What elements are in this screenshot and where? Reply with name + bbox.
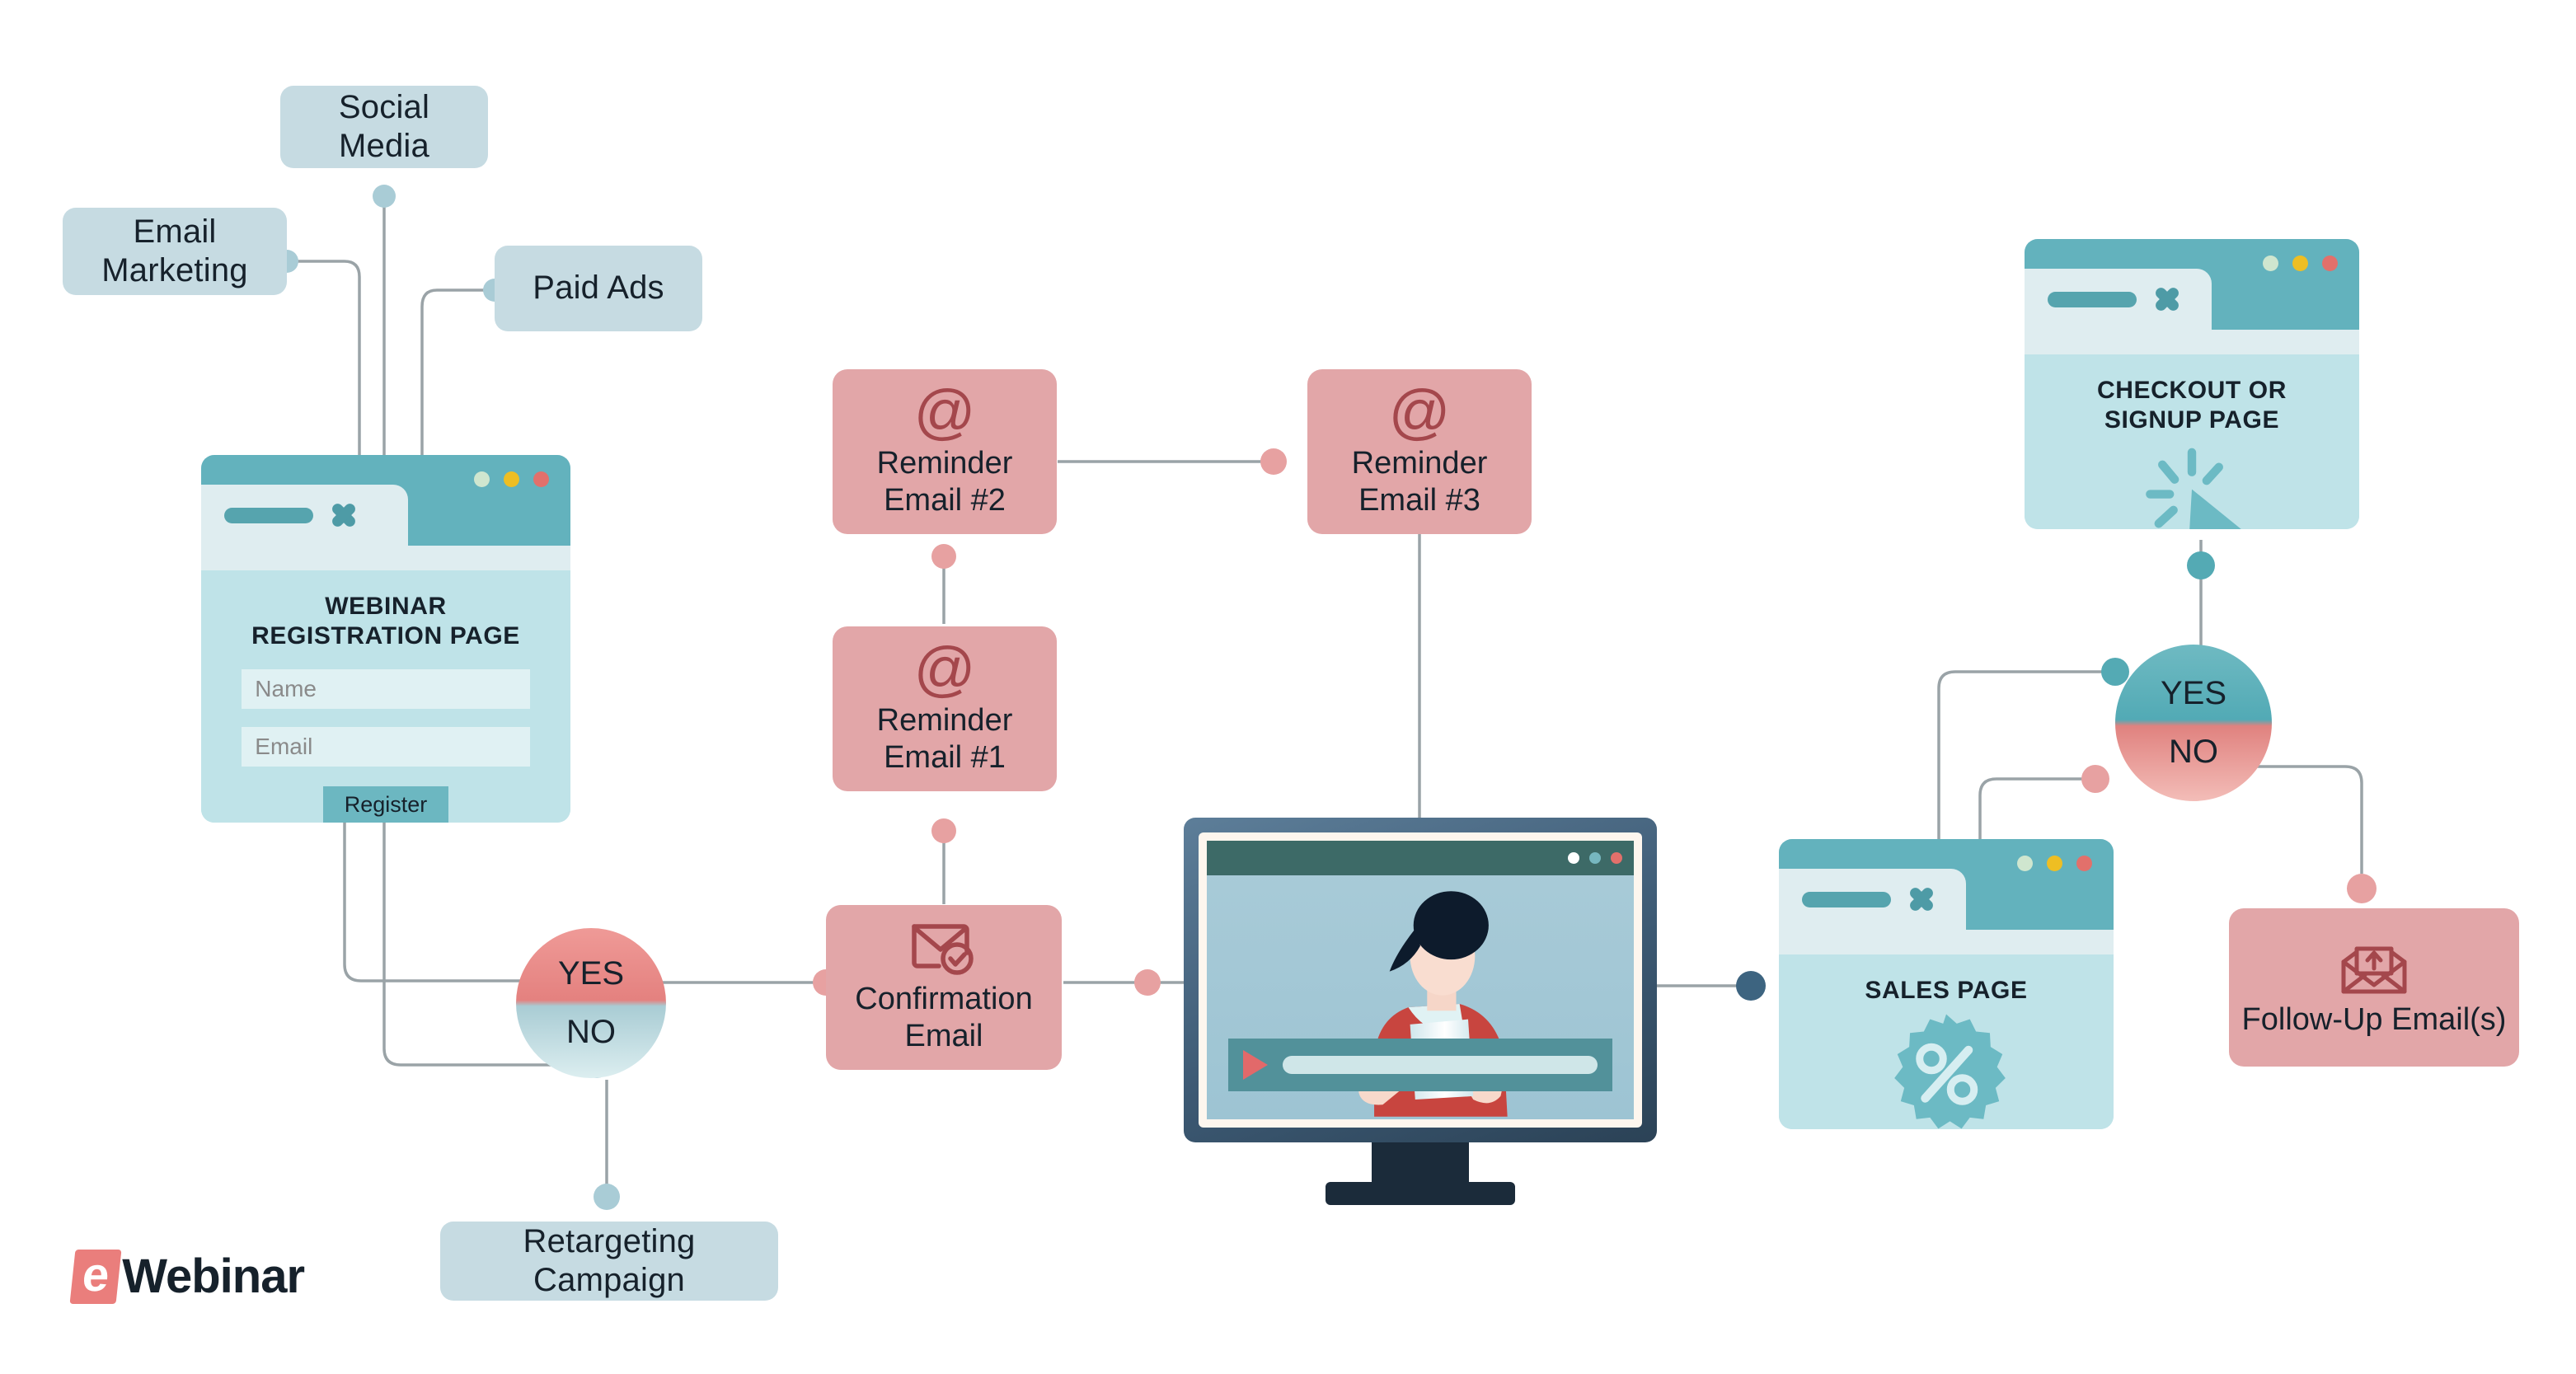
- retargeting-campaign-box[interactable]: Retargeting Campaign: [440, 1222, 778, 1301]
- title-line-1: SALES PAGE: [1865, 976, 2027, 1006]
- traffic-source-label: Paid Ads: [533, 269, 664, 307]
- reminder-email-1-label: Reminder Email #1: [877, 702, 1013, 776]
- tab-title-pill: [2048, 292, 2137, 307]
- window-controls: [474, 471, 549, 487]
- browser-tab[interactable]: [1779, 869, 1966, 930]
- follow-up-emails-box[interactable]: Follow-Up Email(s): [2229, 908, 2519, 1067]
- close-icon[interactable]: [1909, 887, 1934, 912]
- window-dot-green: [474, 471, 490, 487]
- close-icon[interactable]: [331, 503, 356, 528]
- register-button[interactable]: Register: [323, 786, 449, 823]
- play-icon[interactable]: [1243, 1050, 1268, 1080]
- label-line-2: Email: [855, 1018, 1032, 1055]
- title-line-2: REGISTRATION PAGE: [251, 621, 520, 651]
- close-icon[interactable]: [2155, 287, 2180, 312]
- decision-no-label: NO: [566, 1014, 616, 1051]
- browser-tabrow: [2025, 287, 2359, 330]
- window-dot-red: [533, 471, 549, 487]
- tab-title-pill: [224, 508, 313, 523]
- monitor-neck: [1372, 1142, 1469, 1185]
- traffic-source-label: Email Marketing: [77, 213, 272, 290]
- video-screen[interactable]: [1207, 841, 1634, 1119]
- window-dot-yellow: [2292, 256, 2308, 271]
- title-line-1: WEBINAR: [251, 592, 520, 621]
- at-icon: @: [1388, 385, 1450, 438]
- click-cursor-icon: [2130, 440, 2254, 529]
- envelope-check-icon: [909, 920, 978, 976]
- envelope-upload-icon: [2339, 937, 2409, 997]
- discount-percent-badge-icon: [1884, 1011, 2008, 1129]
- window-dot-yellow: [2047, 856, 2062, 871]
- confirmation-email-label: Confirmation Email: [855, 981, 1032, 1055]
- webinar-player-monitor[interactable]: [1184, 818, 1657, 1142]
- checkout-page-body: CHECKOUT OR SIGNUP PAGE: [2025, 354, 2359, 529]
- reminder-email-2-label: Reminder Email #2: [877, 445, 1013, 519]
- traffic-source-social-media[interactable]: Social Media: [280, 86, 488, 168]
- email-input[interactable]: Email: [242, 727, 529, 767]
- tab-title-pill: [1802, 892, 1891, 907]
- sales-page-title: SALES PAGE: [1865, 976, 2027, 1006]
- at-icon: @: [913, 642, 975, 696]
- decision-yes-label: YES: [2161, 675, 2226, 712]
- monitor-base: [1326, 1182, 1515, 1205]
- checkout-page-title: CHECKOUT OR SIGNUP PAGE: [2097, 376, 2287, 435]
- browser-addressbar: [1779, 930, 2114, 954]
- window-dot-green: [2017, 856, 2033, 871]
- confirmation-email-box[interactable]: Confirmation Email: [826, 905, 1062, 1070]
- reminder-email-3-box[interactable]: @ Reminder Email #3: [1307, 369, 1532, 534]
- traffic-source-label: Social Media: [295, 88, 473, 166]
- traffic-source-paid-ads[interactable]: Paid Ads: [495, 246, 702, 331]
- window-dot-yellow: [504, 471, 519, 487]
- webinar-registration-page-window[interactable]: WEBINAR REGISTRATION PAGE Name Email Reg…: [201, 455, 570, 823]
- at-icon: @: [913, 385, 975, 438]
- browser-addressbar: [201, 546, 570, 570]
- window-dot-red: [2322, 256, 2338, 271]
- browser-tabrow: [201, 503, 570, 546]
- label-line-1: Reminder: [877, 445, 1013, 482]
- sales-page-body: SALES PAGE: [1779, 954, 2114, 1129]
- ewebinar-logo: e Webinar: [73, 1250, 304, 1304]
- decision-yes-label: YES: [558, 955, 624, 992]
- registration-page-body: WEBINAR REGISTRATION PAGE Name Email Reg…: [201, 570, 570, 823]
- label-line-1: Follow-Up Email(s): [2242, 1001, 2507, 1039]
- browser-addressbar: [2025, 330, 2359, 354]
- label-line-1: Confirmation: [855, 981, 1032, 1018]
- logo-mark-e: e: [70, 1250, 122, 1304]
- window-dot-red: [2076, 856, 2092, 871]
- decision-did-purchase[interactable]: YES NO: [2115, 645, 2272, 801]
- flowchart-canvas: Social Media Email Marketing Paid Ads WE…: [0, 0, 2576, 1374]
- label-line-2: Email #3: [1352, 482, 1488, 519]
- traffic-source-email-marketing[interactable]: Email Marketing: [63, 208, 287, 295]
- label-line-2: Email #2: [877, 482, 1013, 519]
- reminder-email-1-box[interactable]: @ Reminder Email #1: [833, 626, 1057, 791]
- name-input[interactable]: Name: [242, 669, 529, 709]
- browser-tab[interactable]: [2025, 269, 2212, 330]
- reminder-email-2-box[interactable]: @ Reminder Email #2: [833, 369, 1057, 534]
- sales-page-window[interactable]: SALES PAGE: [1779, 839, 2114, 1129]
- video-controls[interactable]: [1228, 1039, 1612, 1091]
- monitor-bezel: [1199, 832, 1642, 1128]
- monitor-frame: [1184, 818, 1657, 1142]
- window-dot-green: [2263, 256, 2278, 271]
- progress-bar[interactable]: [1283, 1056, 1598, 1074]
- label-line-1: Reminder: [1352, 445, 1488, 482]
- logo-wordmark: Webinar: [122, 1253, 304, 1301]
- browser-tabrow: [1779, 887, 2114, 930]
- window-controls: [2263, 256, 2338, 271]
- decision-no-label: NO: [2169, 734, 2218, 771]
- window-controls: [2017, 856, 2092, 871]
- checkout-signup-page-window[interactable]: CHECKOUT OR SIGNUP PAGE: [2025, 239, 2359, 529]
- retargeting-campaign-label: Retargeting Campaign: [455, 1222, 763, 1300]
- reminder-email-3-label: Reminder Email #3: [1352, 445, 1488, 519]
- registration-page-title: WEBINAR REGISTRATION PAGE: [251, 592, 520, 651]
- label-line-2: Email #1: [877, 739, 1013, 776]
- follow-up-emails-label: Follow-Up Email(s): [2242, 1001, 2507, 1039]
- decision-did-register[interactable]: YES NO: [516, 928, 666, 1078]
- label-line-1: Reminder: [877, 702, 1013, 739]
- browser-tab[interactable]: [201, 485, 408, 546]
- title-line-1: CHECKOUT OR: [2097, 376, 2287, 406]
- title-line-2: SIGNUP PAGE: [2097, 406, 2287, 435]
